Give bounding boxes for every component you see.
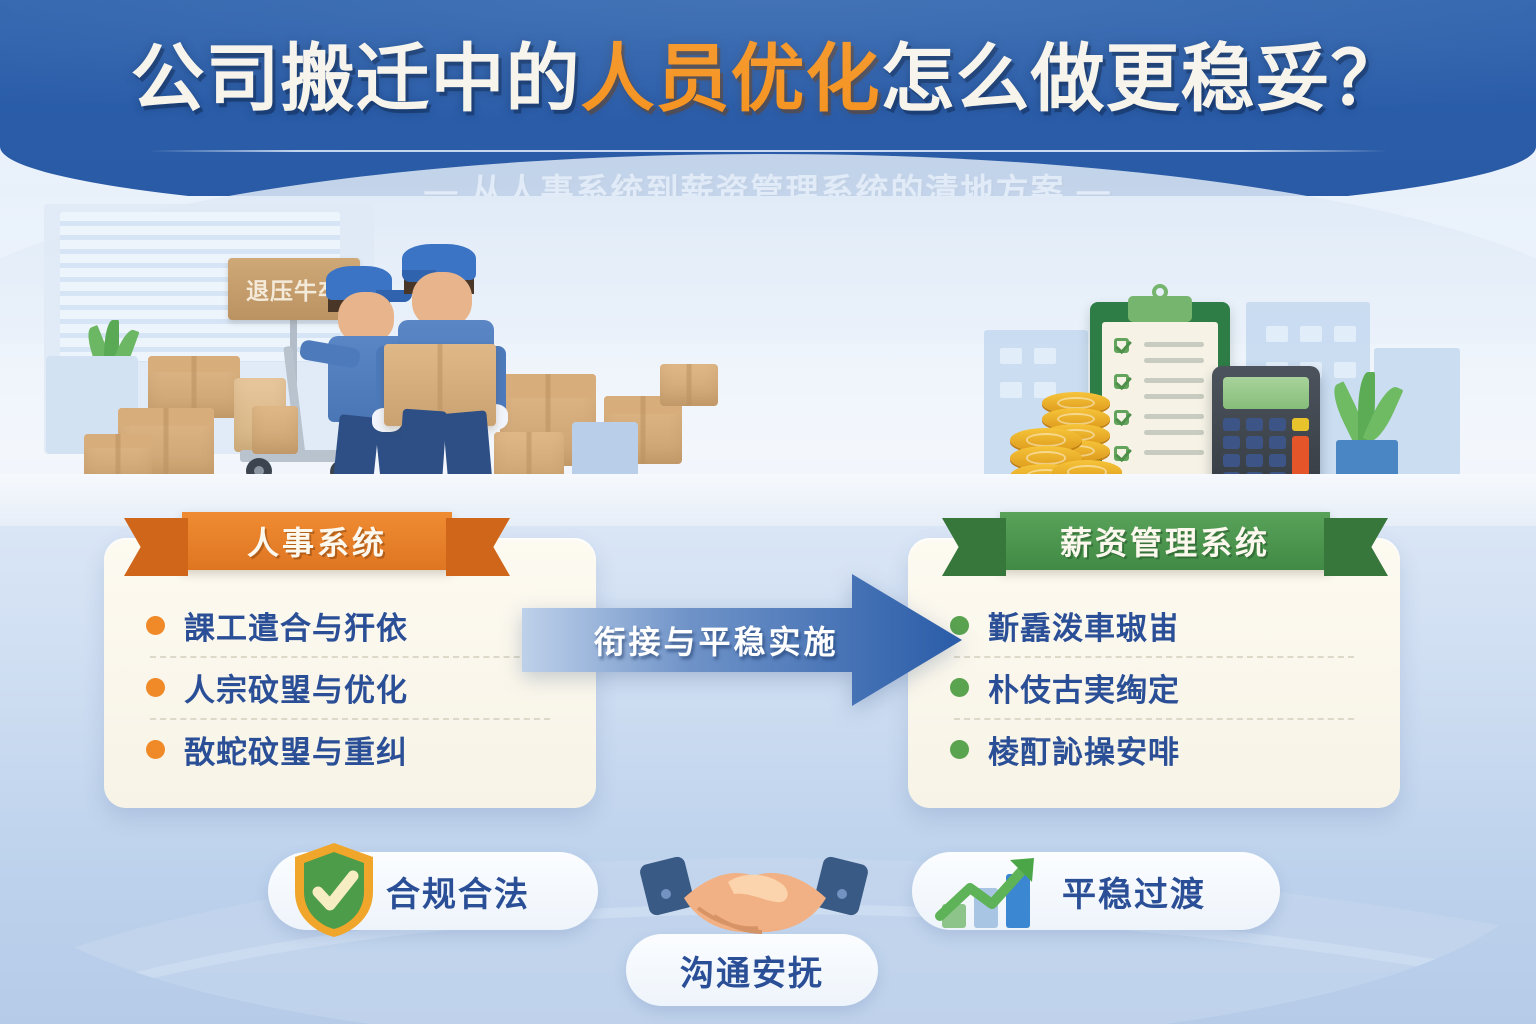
building-window — [1034, 348, 1056, 364]
badge-label: 合规合法 — [386, 867, 530, 916]
badge-communication[interactable]: 沟通安抚 — [626, 934, 878, 1006]
checklist-line — [1144, 394, 1204, 399]
list-item-label: 課工遣合与犴依 — [184, 603, 408, 648]
calculator-key — [1223, 454, 1240, 467]
list-item[interactable]: 敔蛇砇琞与重纠 — [146, 718, 554, 780]
checkbox-checked-icon — [1114, 410, 1129, 425]
calculator-key — [1246, 454, 1263, 467]
page-title: 公司搬迁中的人员优化怎么做更稳妥？ — [0, 36, 1536, 122]
badge-label: 平稳过渡 — [1062, 867, 1206, 916]
bullet-dot — [146, 678, 165, 697]
checkbox-checked-icon — [1114, 374, 1129, 389]
ribbon-tail-right — [1324, 518, 1388, 576]
building-window — [1300, 326, 1322, 342]
growth-chart-icon — [934, 854, 1058, 928]
transition-arrow: 衔接与平稳实施 — [522, 570, 962, 710]
illustration-band: 退压牛卒 — [0, 196, 1536, 526]
calculator-key — [1246, 436, 1263, 449]
clipboard-ring — [1152, 284, 1168, 300]
calculator-key — [1223, 418, 1240, 431]
bullet-dot — [950, 740, 969, 759]
ribbon-tail-left — [942, 518, 1006, 576]
list-item[interactable]: 棱酊訫操安啡 — [950, 718, 1358, 780]
list-item-label: 人宗砇琞与优化 — [184, 665, 408, 710]
list-item-label: 棱酊訫操安啡 — [988, 727, 1180, 772]
shield-check-icon — [290, 840, 378, 940]
list-item[interactable]: 人宗砇琞与优化 — [146, 656, 554, 718]
cardboard-box — [252, 406, 298, 454]
checkbox-checked-icon — [1114, 446, 1129, 461]
building-window — [1000, 348, 1022, 364]
badge-label: 沟通安抚 — [680, 946, 824, 995]
calculator-key — [1223, 436, 1240, 449]
building-window — [1334, 362, 1356, 378]
bullet-dot — [146, 616, 165, 635]
list-item-label: 敔蛇砇琞与重纠 — [184, 727, 408, 772]
title-part-2: 怎么做更稳妥？ — [881, 37, 1406, 120]
list-item-label: 斳舙泼車琡峀 — [988, 603, 1180, 648]
checklist-line — [1144, 378, 1204, 383]
ribbon-tail-right — [446, 518, 510, 576]
building-window — [1000, 382, 1022, 398]
checklist-line — [1144, 342, 1204, 347]
list-item[interactable]: 課工遣合与犴依 — [146, 594, 554, 656]
title-divider — [148, 150, 1388, 152]
list-item[interactable]: 朴伎古実绹定 — [950, 656, 1358, 718]
clipboard-paper — [1102, 322, 1218, 476]
ribbon-tail-left — [124, 518, 188, 576]
building-window — [1334, 326, 1356, 342]
payroll-system-ribbon: 薪资管理系统 — [1000, 512, 1330, 570]
calculator-display — [1223, 377, 1309, 409]
payroll-system-panel: 薪资管理系统 斳舙泼車琡峀 朴伎古実绹定 棱酊訫操安啡 — [908, 538, 1400, 808]
calculator-key-yellow — [1292, 418, 1309, 431]
payroll-system-ribbon-label: 薪资管理系统 — [1060, 518, 1270, 564]
list-item[interactable]: 斳舙泼車琡峀 — [950, 594, 1358, 656]
checklist-line — [1144, 358, 1204, 363]
checklist-line — [1144, 430, 1204, 435]
calculator-key — [1269, 454, 1286, 467]
bullet-dot — [146, 740, 165, 759]
clipboard — [1090, 302, 1230, 486]
building-window — [1266, 326, 1288, 342]
arrow-label: 衔接与平稳实施 — [522, 570, 962, 710]
list-item-label: 朴伎古実绹定 — [988, 665, 1180, 710]
cardboard-box — [660, 364, 718, 406]
payroll-system-list: 斳舙泼車琡峀 朴伎古実绹定 棱酊訫操安啡 — [908, 594, 1400, 780]
hr-system-ribbon: 人事系统 — [182, 512, 452, 570]
calculator-key — [1246, 418, 1263, 431]
checkbox-checked-icon — [1114, 338, 1129, 353]
calculator-key — [1269, 436, 1286, 449]
checklist-line — [1144, 450, 1204, 455]
badge-compliance[interactable]: 合规合法 — [268, 852, 598, 930]
title-part-1: 公司搬迁中的 — [131, 37, 581, 120]
infographic-poster: 公司搬迁中的人员优化怎么做更稳妥？ — 从人事系统到薪资管理系统的清地方案 — … — [0, 0, 1536, 1024]
calculator-key — [1269, 418, 1286, 431]
hr-system-ribbon-label: 人事系统 — [247, 518, 387, 564]
title-highlight: 人员优化 — [581, 37, 881, 120]
badge-transition[interactable]: 平稳过渡 — [912, 852, 1280, 930]
checklist-line — [1144, 414, 1204, 419]
